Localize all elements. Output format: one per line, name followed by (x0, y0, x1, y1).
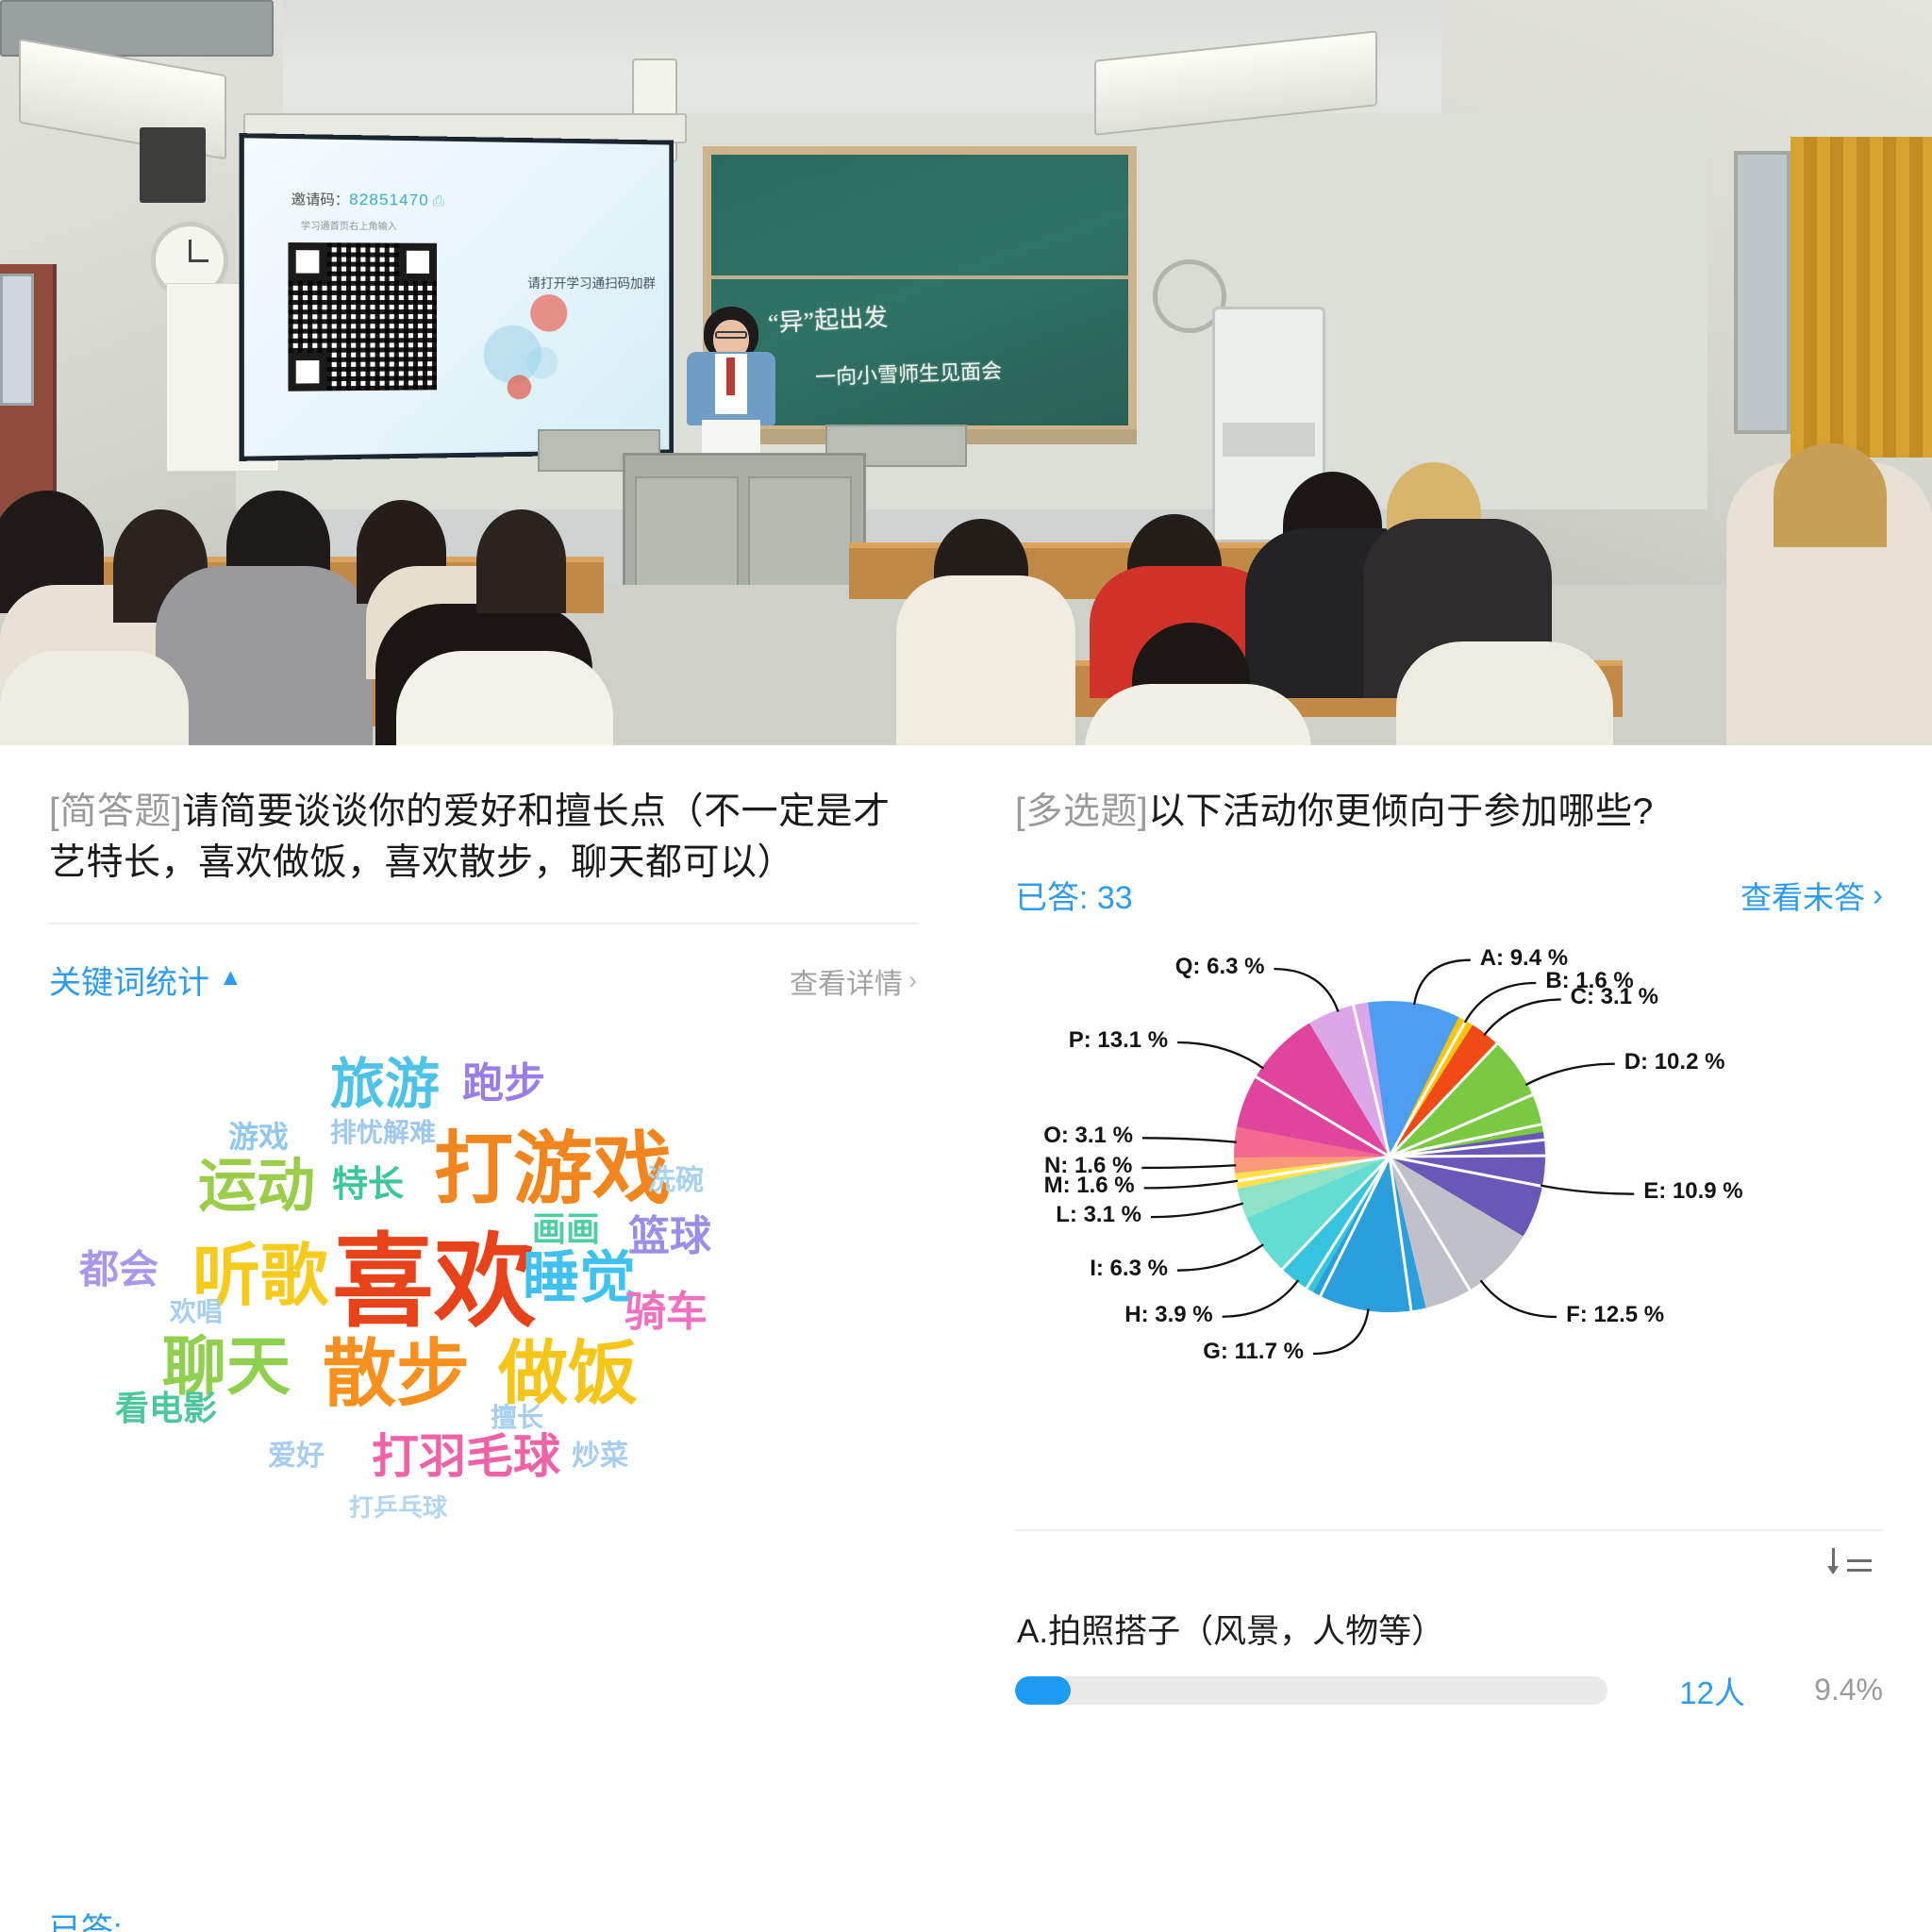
word-cloud-term: 洗碗 (647, 1167, 704, 1195)
invite-code: 82851470 (349, 191, 429, 209)
word-cloud-term: 喜欢 (332, 1231, 536, 1333)
stats-content: [简答题]请简要谈谈你的爱好和擅长点（不一定是才艺特长，喜欢做饭，喜欢散步，聊天… (0, 745, 1932, 1932)
sort-row (1015, 1531, 1883, 1578)
option-a-bar-track (1015, 1676, 1607, 1705)
pie-slice-label: P: 13.1 % (1015, 1027, 1168, 1054)
word-cloud-term: 看电影 (115, 1391, 217, 1425)
word-cloud-term: 特长 (332, 1167, 404, 1203)
blackboard-text-line2: 一向小雪师生见面会 (815, 355, 1003, 391)
pie-slice-label: G: 11.7 % (1015, 1339, 1304, 1365)
word-cloud-term: 旅游 (330, 1058, 440, 1112)
classroom-photo: 邀请码：82851470 ⎙ 学习通首页右上角输入 请打开学习通扫码加群 “异”… (0, 0, 1932, 745)
student (1396, 641, 1613, 745)
word-cloud-term: 睡觉 (523, 1250, 636, 1307)
view-unanswered-label: 查看未答 (1740, 873, 1865, 918)
scan-instruction: 请打开学习通扫码加群 (527, 274, 656, 292)
word-cloud-term: 跑步 (462, 1063, 545, 1105)
window (1734, 151, 1790, 434)
option-a-count: 12人 (1632, 1668, 1745, 1713)
left-question-tag: [简答题] (49, 791, 182, 832)
pie-slice-label: I: 6.3 % (1015, 1256, 1168, 1282)
keyword-stats-header: 关键词统计 ▲ 查看详情 › (49, 924, 917, 1008)
view-detail-label: 查看详情 (790, 960, 903, 1002)
word-cloud-term: 运动 (198, 1158, 315, 1216)
option-a-bar-fill (1015, 1676, 1071, 1705)
word-cloud-term: 打乒乓球 (349, 1495, 447, 1520)
word-cloud-term: 爱好 (268, 1442, 325, 1471)
word-cloud-term: 排忧解难 (330, 1120, 436, 1146)
pie-slice-label: D: 10.2 % (1624, 1049, 1725, 1075)
chevron-right-icon: › (1873, 877, 1883, 913)
word-cloud-term: 炒菜 (572, 1442, 628, 1471)
decor-bubble (530, 294, 567, 332)
blackboard-text-line1: “异”起出发 (767, 298, 889, 340)
answered-header: 已答: 33 查看未答 › (1015, 838, 1883, 918)
word-cloud-term: 欢唱 (170, 1299, 223, 1325)
right-question-tag: [多选题] (1015, 791, 1148, 832)
left-bottom-partial: 已答: (49, 1904, 122, 1932)
pie-slice-label: C: 3.1 % (1571, 984, 1658, 1010)
student (476, 509, 566, 613)
word-cloud-term: 做饭 (498, 1339, 638, 1408)
left-panel: [简答题]请简要谈谈你的爱好和擅长点（不一定是才艺特长，喜欢做饭，喜欢散步，聊天… (0, 745, 966, 1932)
student (1774, 443, 1887, 547)
pie-leader-lines (1015, 927, 1883, 1512)
student (0, 651, 189, 745)
keyword-stats-label: 关键词统计 (49, 957, 209, 1003)
word-cloud-term: 擅长 (491, 1405, 543, 1431)
pie-slice-label: F: 12.5 % (1566, 1302, 1664, 1328)
word-cloud-term: 画画 (532, 1212, 600, 1246)
keyword-word-cloud: 喜欢打游戏散步做饭听歌聊天运动旅游睡觉打羽毛球篮球骑车跑步都会特长画画看电影游戏… (49, 1016, 917, 1544)
right-panel: [多选题]以下活动你更倾向于参加哪些? 已答: 33 查看未答 › A: 9.4… (966, 745, 1932, 1932)
word-cloud-term: 篮球 (628, 1216, 711, 1257)
word-cloud-term: 骑车 (625, 1291, 708, 1333)
sort-descending-icon[interactable] (1832, 1546, 1872, 1578)
right-question: [多选题]以下活动你更倾向于参加哪些? (1015, 787, 1883, 838)
word-cloud-term: 游戏 (228, 1122, 289, 1152)
student (1085, 684, 1311, 745)
keyword-stats-toggle[interactable]: 关键词统计 ▲ (49, 957, 242, 1003)
view-unanswered-link[interactable]: 查看未答 › (1740, 873, 1883, 918)
chevron-up-icon: ▲ (219, 966, 242, 990)
answer-pie-chart: A: 9.4 %B: 1.6 %C: 3.1 %D: 10.2 %E: 10.9… (1015, 927, 1883, 1512)
blackboard-rail (711, 275, 1128, 279)
word-cloud-term: 打羽毛球 (372, 1433, 560, 1480)
option-a-percent: 9.4% (1770, 1673, 1883, 1707)
pie-slice-label: O: 3.1 % (1015, 1123, 1133, 1149)
pie-slice-label: N: 1.6 % (1015, 1153, 1132, 1179)
wall-frame (0, 274, 34, 406)
pie-slice-label: L: 3.1 % (1015, 1202, 1141, 1228)
decor-bubble (526, 346, 558, 378)
invite-subtext: 学习通首页右上角输入 (301, 218, 397, 233)
option-a-label: A.拍照搭子（风景，人物等） (1015, 1578, 1883, 1668)
chevron-right-icon: › (908, 966, 917, 995)
pie-slice-label: E: 10.9 % (1643, 1178, 1742, 1205)
projector-screen: 邀请码：82851470 ⎙ 学习通首页右上角输入 请打开学习通扫码加群 (240, 133, 674, 461)
left-question: [简答题]请简要谈谈你的爱好和擅长点（不一定是才艺特长，喜欢做饭，喜欢散步，聊天… (49, 787, 917, 889)
pie-slice-label: H: 3.9 % (1015, 1302, 1213, 1328)
student (396, 651, 613, 745)
view-detail-link[interactable]: 查看详情 › (790, 960, 917, 1002)
invite-label: 邀请码： (291, 192, 350, 208)
copy-icon: ⎙ (433, 193, 444, 209)
teacher (679, 307, 783, 476)
word-cloud-term: 打游戏 (434, 1129, 672, 1208)
student (896, 575, 1075, 745)
answered-count: 已答: 33 (1015, 872, 1133, 918)
word-cloud-term: 都会 (79, 1250, 158, 1290)
decor-bubble (508, 375, 532, 399)
word-cloud-term: 散步 (323, 1337, 470, 1410)
curtain (1790, 137, 1932, 458)
right-question-text: 以下活动你更倾向于参加哪些? (1148, 791, 1654, 832)
option-a-row: 12人 9.4% (1015, 1668, 1883, 1713)
invite-code-line: 邀请码：82851470 ⎙ (291, 189, 444, 210)
pie-slice-label: Q: 6.3 % (1015, 954, 1264, 980)
qr-code-icon (288, 242, 437, 391)
wall-speaker (140, 127, 206, 203)
